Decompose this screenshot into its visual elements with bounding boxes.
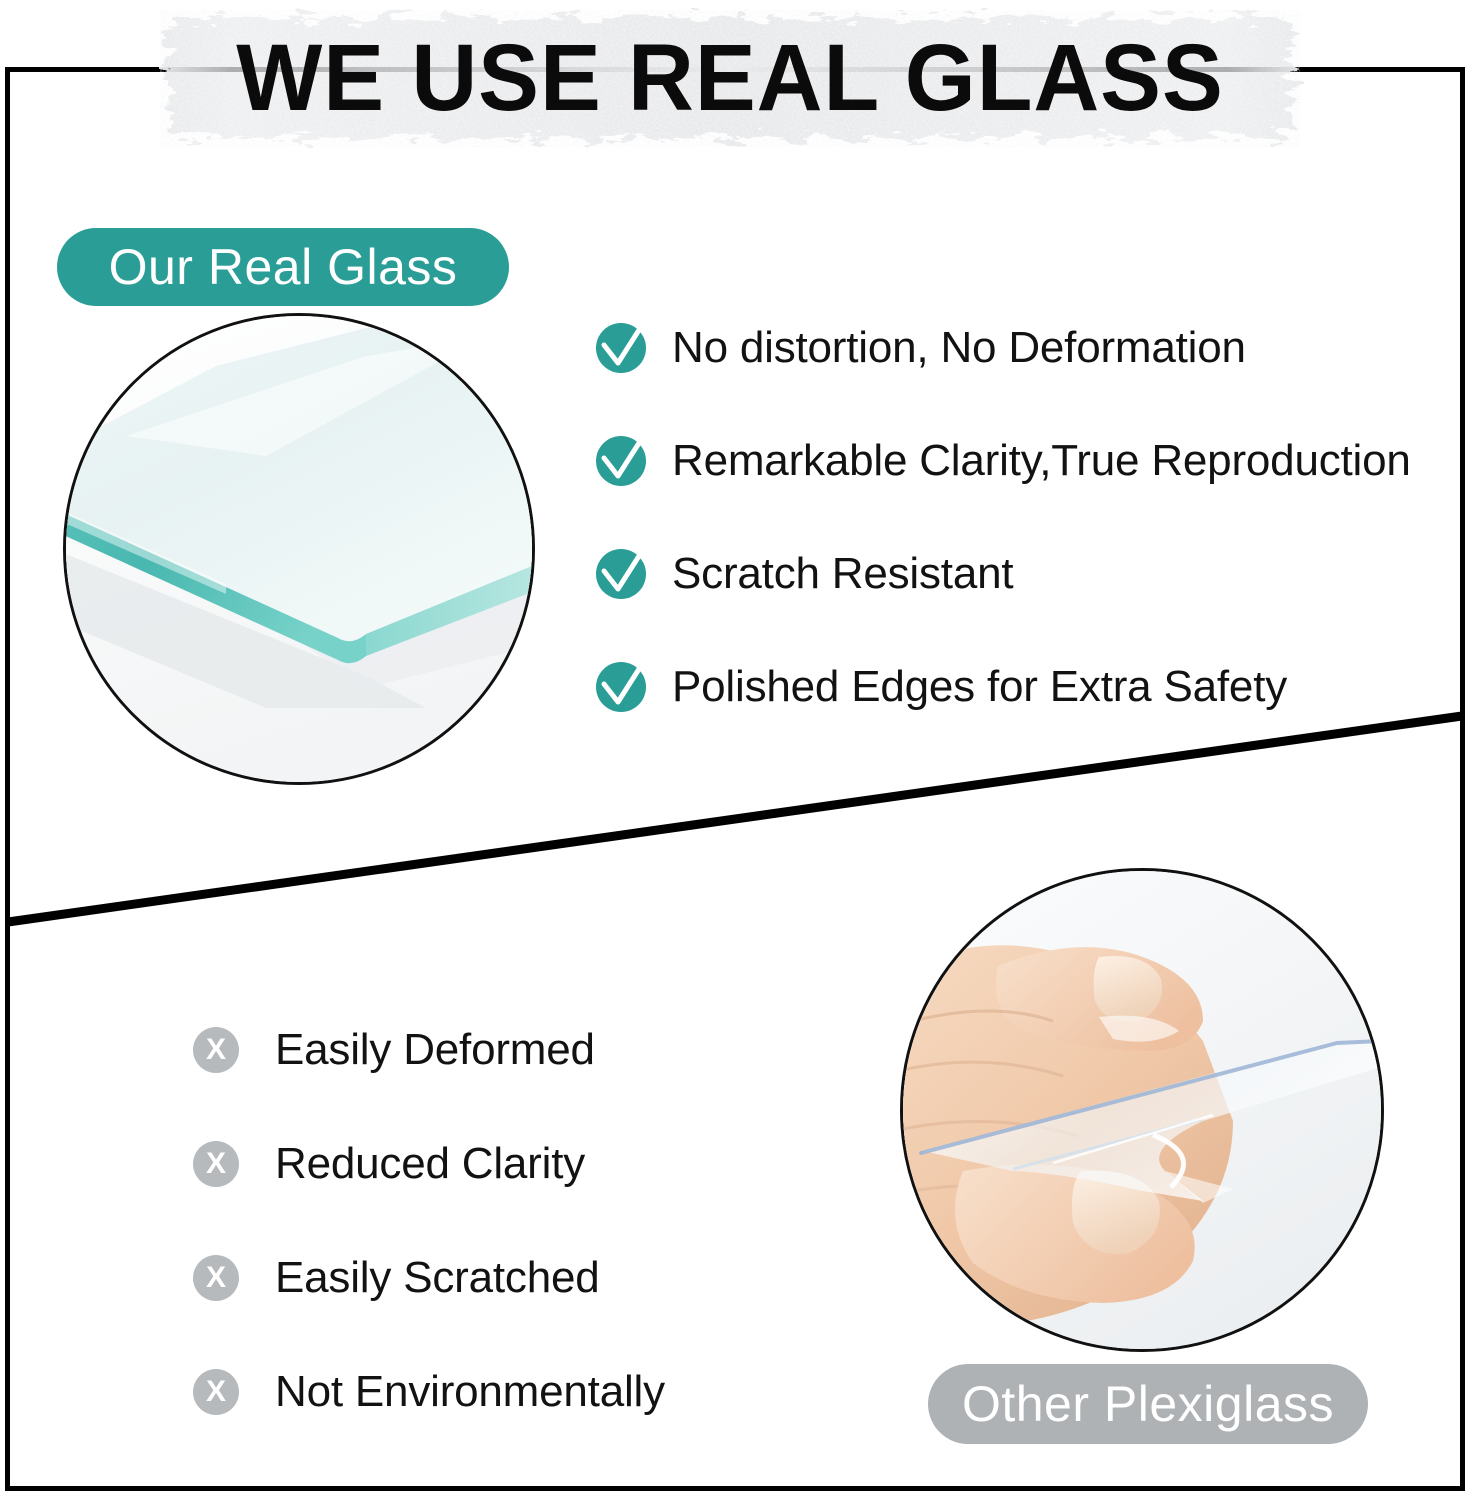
check-icon	[594, 660, 648, 714]
list-item: Remarkable Clarity,True Reproduction	[594, 404, 1411, 517]
list-item: X Not Environmentally	[193, 1335, 665, 1449]
list-item-label: Remarkable Clarity,True Reproduction	[672, 436, 1411, 486]
list-item-label: No distortion, No Deformation	[672, 323, 1246, 373]
our-real-glass-badge: Our Real Glass	[57, 228, 509, 306]
check-icon	[594, 547, 648, 601]
x-icon: X	[193, 1255, 239, 1301]
list-item-label: Not Environmentally	[275, 1367, 665, 1417]
x-icon: X	[193, 1141, 239, 1187]
x-glyph: X	[206, 1377, 226, 1407]
list-item-label: Reduced Clarity	[275, 1139, 585, 1189]
plexiglass-photo	[900, 868, 1384, 1352]
page-title: WE USE REAL GLASS	[173, 6, 1287, 151]
list-item: Scratch Resistant	[594, 517, 1411, 630]
cons-list: X Easily Deformed X Reduced Clarity X Ea…	[193, 993, 665, 1449]
list-item: X Reduced Clarity	[193, 1107, 665, 1221]
x-icon: X	[193, 1369, 239, 1415]
x-icon: X	[193, 1027, 239, 1073]
x-glyph: X	[206, 1263, 226, 1293]
list-item: X Easily Deformed	[193, 993, 665, 1107]
title-banner: WE USE REAL GLASS	[150, 6, 1310, 151]
list-item: No distortion, No Deformation	[594, 291, 1411, 404]
other-plexiglass-badge: Other Plexiglass	[928, 1364, 1368, 1444]
list-item-label: Scratch Resistant	[672, 549, 1013, 599]
list-item-label: Easily Scratched	[275, 1253, 600, 1303]
check-icon	[594, 434, 648, 488]
check-icon	[594, 321, 648, 375]
list-item: Polished Edges for Extra Safety	[594, 630, 1411, 743]
list-item-label: Easily Deformed	[275, 1025, 595, 1075]
list-item: X Easily Scratched	[193, 1221, 665, 1335]
list-item-label: Polished Edges for Extra Safety	[672, 662, 1287, 712]
pros-list: No distortion, No Deformation Remarkable…	[594, 291, 1411, 743]
x-glyph: X	[206, 1035, 226, 1065]
x-glyph: X	[206, 1149, 226, 1179]
real-glass-photo	[63, 313, 535, 785]
